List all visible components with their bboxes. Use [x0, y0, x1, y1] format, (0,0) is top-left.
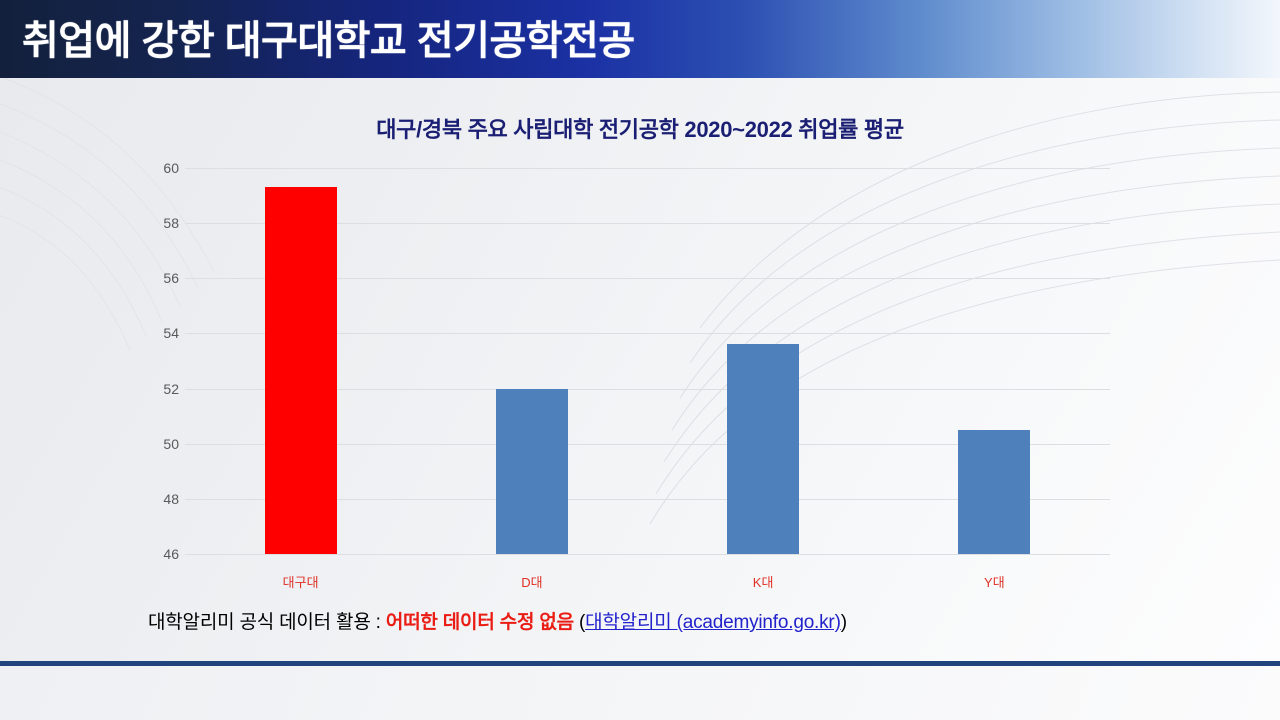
chart-x-tick-label: Y대 [984, 572, 1005, 591]
chart-x-tick-label: 대구대 [283, 572, 319, 591]
footnote-emphasis: 어떠한 데이터 수정 없음 [386, 612, 574, 633]
chart-y-tick-label: 50 [145, 436, 179, 452]
footnote-lead: 대학알리미 공식 데이터 활용 : [148, 612, 386, 633]
chart-y-tick-label: 52 [145, 381, 179, 397]
slide-background-footer [0, 666, 1280, 720]
chart-y-tick-label: 48 [145, 491, 179, 507]
source-link[interactable]: 대학알리미 (academyinfo.go.kr) [585, 612, 841, 633]
slide-root: 취업에 강한 대구대학교 전기공학전공 대구/경북 주요 사립대학 전기공학 2… [0, 0, 1280, 720]
chart-bar [958, 430, 1030, 554]
chart-y-tick-label: 46 [145, 546, 179, 562]
chart-y-tick-label: 60 [145, 160, 179, 176]
slide-header-band: 취업에 강한 대구대학교 전기공학전공 [0, 0, 1280, 78]
chart-bar [727, 344, 799, 554]
chart-y-tick-label: 56 [145, 270, 179, 286]
chart-x-tick-label: D대 [521, 572, 542, 591]
chart-title: 대구/경북 주요 사립대학 전기공학 2020~2022 취업률 평균 [0, 112, 1280, 144]
page-title: 취업에 강한 대구대학교 전기공학전공 [22, 8, 635, 66]
chart-bars-layer [185, 168, 1110, 554]
chart-bar [265, 187, 337, 554]
chart-bar [496, 389, 568, 554]
footer-divider [0, 661, 1280, 666]
chart-gridline [185, 554, 1110, 555]
chart-y-tick-label: 54 [145, 325, 179, 341]
source-footnote: 대학알리미 공식 데이터 활용 : 어떠한 데이터 수정 없음 (대학알리미 (… [148, 607, 847, 634]
chart-y-tick-label: 58 [145, 215, 179, 231]
footnote-paren-open: ( [574, 612, 585, 633]
chart-x-tick-label: K대 [753, 572, 774, 591]
footnote-paren-close: ) [841, 612, 847, 633]
